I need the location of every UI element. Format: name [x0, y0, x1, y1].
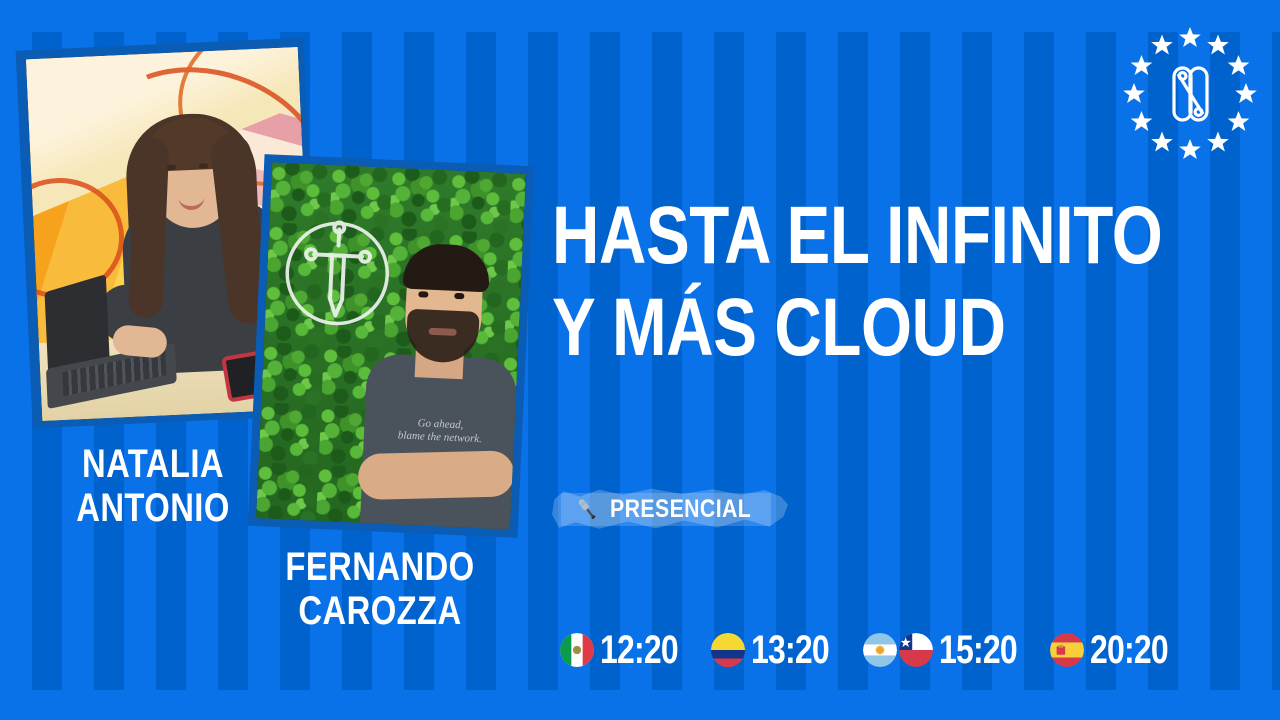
speaker-last-name: CAROZZA: [257, 589, 503, 633]
eyebrow: [415, 281, 435, 287]
timezone-row: 12:20 13:20: [560, 626, 1179, 674]
speaker-first-name: FERNANDO: [257, 545, 503, 589]
flag-spain-icon: [1050, 633, 1084, 667]
title-line-1: HASTA EL INFINITO: [552, 190, 1112, 282]
speaker-last-name: ANTONIO: [34, 486, 272, 530]
time-item-mexico: 12:20: [560, 630, 689, 670]
time-item-argentina-chile: 15:20: [863, 630, 1028, 670]
crossed-arms: [358, 450, 515, 500]
speaker-first-name: NATALIA: [34, 442, 272, 486]
microphone-icon: [574, 496, 600, 522]
time-value: 12:20: [600, 630, 678, 670]
hand: [112, 324, 169, 359]
background-bottom-band: [0, 690, 1280, 720]
eye: [167, 165, 176, 170]
flag-group: [863, 633, 933, 667]
time-item-spain: 20:20: [1050, 630, 1179, 670]
sword-circle-logo: [274, 209, 400, 344]
eye: [199, 163, 208, 168]
speaker-photo-fernando: Go ahead, blame the network.: [256, 160, 556, 560]
n-monogram: [1174, 68, 1207, 120]
flag-mexico-icon: [560, 633, 594, 667]
time-item-colombia: 13:20: [711, 630, 840, 670]
flag-group: [1050, 633, 1084, 667]
promo-banner: Go ahead, blame the network. NATALIA ANT…: [0, 0, 1280, 720]
time-value: 13:20: [751, 630, 829, 670]
mouth: [429, 328, 457, 336]
flag-group: [711, 633, 745, 667]
presencial-badge: PRESENCIAL: [552, 487, 788, 531]
speaker-name-fernando: FERNANDO CAROZZA: [257, 545, 503, 633]
badge-label: PRESENCIAL: [610, 495, 751, 524]
flag-chile-icon: [899, 633, 933, 667]
time-value: 20:20: [1090, 630, 1168, 670]
eye: [418, 291, 428, 297]
nn-stars-logo: [1120, 24, 1260, 164]
speaker-name-natalia: NATALIA ANTONIO: [34, 442, 272, 530]
flag-colombia-icon: [711, 633, 745, 667]
flag-argentina-icon: [863, 633, 897, 667]
flag-group: [560, 633, 594, 667]
shirt-text: Go ahead, blame the network.: [380, 416, 501, 447]
eye: [454, 293, 464, 299]
event-title: HASTA EL INFINITO Y MÁS CLOUD: [552, 190, 1252, 374]
title-line-2: Y MÁS CLOUD: [552, 282, 1112, 374]
time-value: 15:20: [939, 630, 1017, 670]
photo-image-fernando: Go ahead, blame the network.: [256, 162, 526, 529]
